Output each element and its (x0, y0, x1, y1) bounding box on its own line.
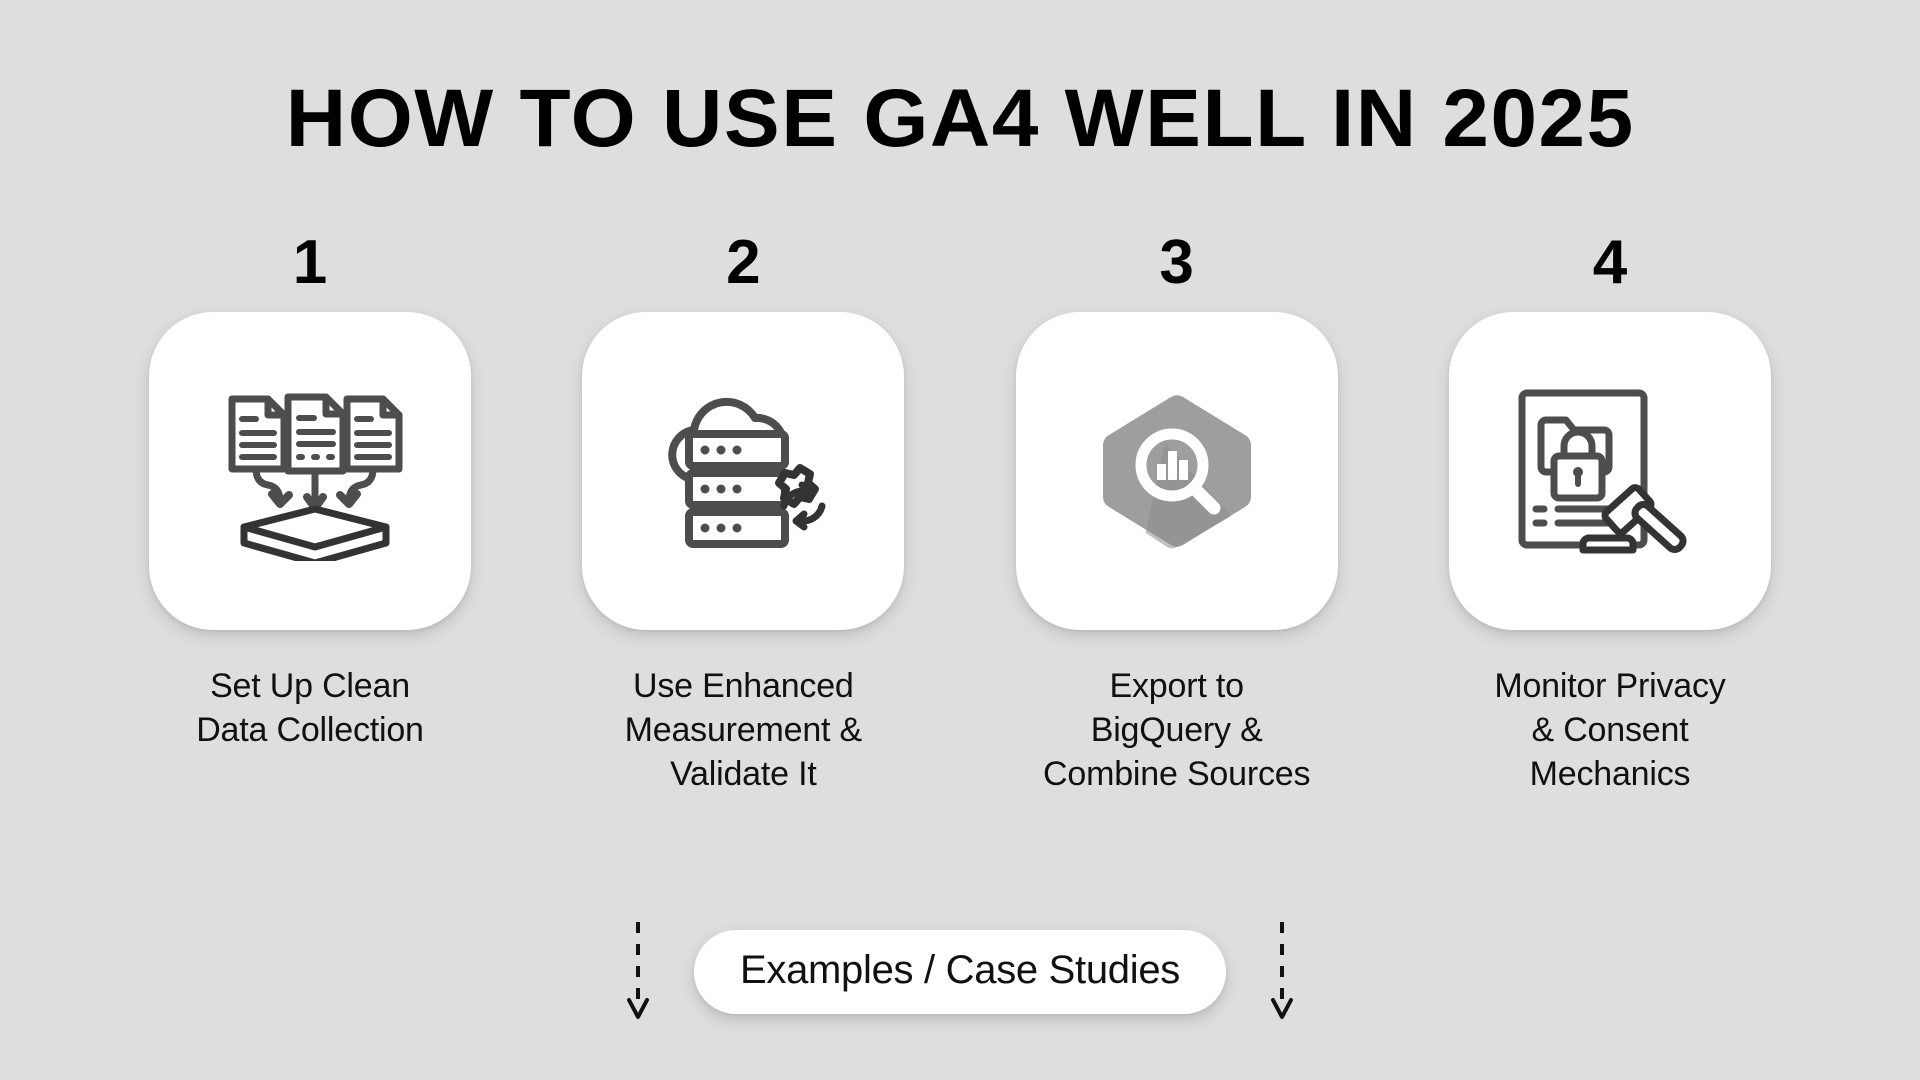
step-number-3: 3 (1159, 232, 1193, 294)
footer-row: Examples / Case Studies (0, 920, 1920, 1024)
step-4[interactable]: 4 (1430, 232, 1790, 797)
step-3-icon-card[interactable] (1016, 312, 1338, 630)
step-number-1: 1 (293, 232, 327, 294)
bigquery-hexagon-icon (1077, 381, 1277, 561)
step-1[interactable]: 1 (130, 232, 490, 752)
step-1-caption: Set Up Clean Data Collection (196, 664, 424, 752)
step-3-caption: Export to BigQuery & Combine Sources (1043, 664, 1310, 797)
documents-to-tray-icon (210, 381, 410, 561)
step-number-4: 4 (1593, 232, 1627, 294)
step-4-caption: Monitor Privacy & Consent Mechanics (1494, 664, 1725, 797)
step-2-icon-card[interactable] (582, 312, 904, 630)
privacy-document-gavel-icon (1510, 379, 1710, 564)
dashed-down-arrow-icon (618, 920, 658, 1024)
page-title: HOW TO USE GA4 WELL IN 2025 (286, 78, 1635, 160)
examples-case-studies-pill[interactable]: Examples / Case Studies (694, 930, 1226, 1014)
step-1-icon-card[interactable] (149, 312, 471, 630)
step-2[interactable]: 2 (563, 232, 923, 797)
dashed-down-arrow-icon (1262, 920, 1302, 1024)
step-3[interactable]: 3 (997, 232, 1357, 797)
step-number-2: 2 (726, 232, 760, 294)
step-2-caption: Use Enhanced Measurement & Validate It (625, 664, 862, 797)
steps-row: 1 (80, 232, 1840, 797)
step-4-icon-card[interactable] (1449, 312, 1771, 630)
infographic-poster: HOW TO USE GA4 WELL IN 2025 1 (0, 0, 1920, 1080)
cloud-server-gear-icon (643, 379, 843, 564)
